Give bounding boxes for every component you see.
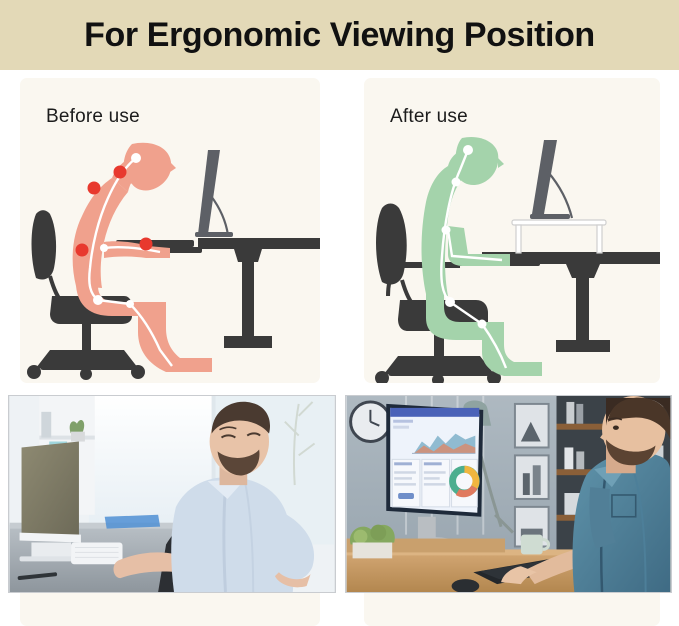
after-use-illustration [364,136,660,383]
pain-point-wrist-icon [140,238,153,251]
desk-foot-icon [556,340,610,352]
before-use-panel: Before use [20,78,320,383]
monitor-icon [195,150,233,237]
keyboard [71,543,122,565]
before-use-illustration [20,136,320,383]
wall-art [515,404,549,547]
pain-point-lower-back-icon [76,244,89,257]
desk-top-icon [198,238,320,249]
page-title: For Ergonomic Viewing Position [84,16,595,55]
monitor-icon [530,140,572,219]
before-use-photo [8,395,336,593]
monitor-riser-icon [512,220,606,253]
after-panel-footer [364,593,660,626]
before-panel-footer [20,593,320,626]
desk-plant [350,525,395,559]
after-use-panel: After use [364,78,660,383]
desk-foot-icon [224,336,272,348]
wall-clock [351,402,391,442]
header-banner: For Ergonomic Viewing Position [0,0,679,70]
desk-leg-icon [242,249,254,345]
before-use-label: Before use [46,106,140,128]
pain-point-shoulder-icon [88,182,101,195]
pain-point-neck-icon [114,166,127,179]
slouched-person-icon [73,143,212,372]
after-use-photo [345,395,672,593]
after-use-label: After use [390,106,468,128]
